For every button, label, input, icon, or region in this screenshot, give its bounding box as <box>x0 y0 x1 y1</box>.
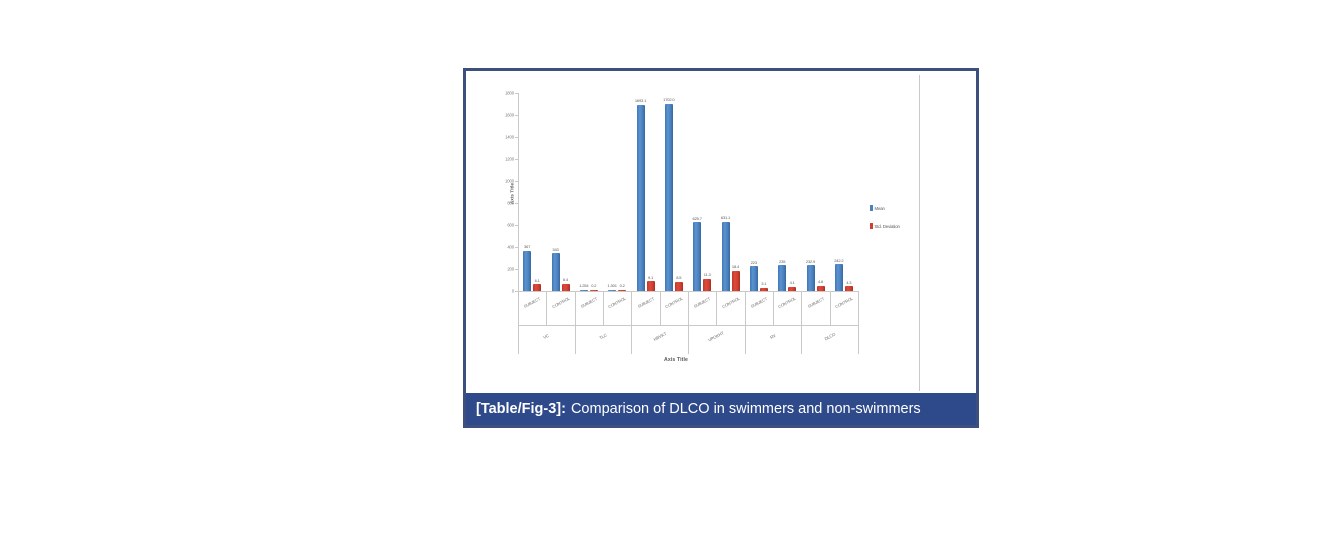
bar-value-label: 8.5 <box>676 275 681 280</box>
category-label: CONTROL <box>664 296 683 309</box>
group-label: DLCO <box>823 332 836 342</box>
bar-mean <box>807 265 815 291</box>
figure-caption-bar: [Table/Fig-3]: Comparison of DLCO in swi… <box>466 393 976 425</box>
bar-mean <box>608 290 616 291</box>
category-separator <box>716 292 717 325</box>
category-label: SUBJECT <box>580 296 598 309</box>
bar-value-label: 4.6 <box>818 279 823 284</box>
bar-value-label: 235 <box>779 259 785 264</box>
chart-legend: MeanStd. Deviation <box>870 205 916 241</box>
category-label: SUBJECT <box>693 296 711 309</box>
bar-std-deviation <box>845 286 853 291</box>
category-label: SUBJECT <box>750 296 768 309</box>
bar-value-label: 18.4 <box>732 264 739 269</box>
y-axis-tick-label: 400 <box>484 245 514 250</box>
category-separator <box>660 292 661 325</box>
bar-mean <box>552 253 560 291</box>
y-axis-tick-label: 1400 <box>484 135 514 140</box>
bar-std-deviation <box>562 284 570 291</box>
bar-value-label: 631.1 <box>721 215 730 220</box>
legend-swatch <box>870 205 873 211</box>
category-group-separator <box>631 292 632 354</box>
chart-canvas: Axis Title 02004006008001000120014001600… <box>466 71 976 393</box>
x-axis-title: Axis Title <box>466 357 886 363</box>
bar-std-deviation <box>760 288 768 291</box>
bar-value-label: 6.4 <box>563 277 568 282</box>
bar-std-deviation <box>675 282 683 291</box>
bar-std-deviation <box>788 287 796 292</box>
bar-mean <box>750 266 758 291</box>
bar-mean <box>778 265 786 291</box>
bar-std-deviation <box>647 281 655 291</box>
legend-item[interactable]: Mean <box>870 205 916 211</box>
category-separator <box>603 292 604 325</box>
category-label: CONTROL <box>721 296 740 309</box>
caption-text: Comparison of DLCO in swimmers and non-s… <box>571 401 921 417</box>
bar-mean <box>835 264 843 291</box>
category-separator <box>546 292 547 325</box>
group-label: HBVKT <box>652 331 667 342</box>
category-group-separator <box>688 292 689 354</box>
bar-value-label: 4.3 <box>846 280 851 285</box>
caption-tag: [Table/Fig-3]: <box>476 401 566 417</box>
category-group-separator <box>518 292 519 354</box>
bar-std-deviation <box>732 271 740 291</box>
bar-value-label: 242.2 <box>834 258 843 263</box>
y-axis-tick-label: 1200 <box>484 157 514 162</box>
bar-value-label: 6.1 <box>535 278 540 283</box>
y-axis-title: Axis Title <box>510 154 515 234</box>
bar-value-label: 1702.0 <box>663 97 674 102</box>
category-label: CONTROL <box>834 296 853 309</box>
y-axis-tick-label: 1000 <box>484 179 514 184</box>
bar-mean <box>580 290 588 291</box>
y-axis-tick-label: 200 <box>484 267 514 272</box>
bar-value-label: 223 <box>751 260 757 265</box>
figure-panel: Axis Title 02004006008001000120014001600… <box>463 68 979 428</box>
bar-mean <box>693 222 701 291</box>
category-label: SUBJECT <box>636 296 654 309</box>
bar-value-label: 343 <box>552 247 558 252</box>
y-axis-tick-label: 800 <box>484 201 514 206</box>
bar-value-label: 232.9 <box>806 259 815 264</box>
bar-value-label: 625.7 <box>693 216 702 221</box>
bar-mean <box>722 222 730 291</box>
category-separator <box>830 292 831 325</box>
category-group-separator <box>801 292 802 354</box>
bar-value-label: 9.1 <box>648 275 653 280</box>
bar-value-label: 11.3 <box>704 272 711 277</box>
bar-std-deviation <box>533 284 541 291</box>
y-axis-tick-label: 0 <box>484 289 514 294</box>
chart-right-divider <box>919 75 920 391</box>
bar-std-deviation <box>618 290 626 291</box>
category-separator <box>773 292 774 325</box>
group-label: VC <box>543 333 550 340</box>
bar-value-label: 367 <box>524 244 530 249</box>
plot-area: 3676.13436.41.2540.21.3010.21693.19.1170… <box>518 93 858 291</box>
category-group-separator <box>745 292 746 354</box>
bar-value-label: 1.254 <box>579 283 588 288</box>
bar-value-label: 4.1 <box>790 280 795 285</box>
group-label: VPOKHT <box>708 330 725 342</box>
bar-value-label: 3.1 <box>761 281 766 286</box>
category-label: CONTROL <box>607 296 626 309</box>
bar-std-deviation <box>590 290 598 291</box>
screenshot-root: Axis Title 02004006008001000120014001600… <box>0 0 1341 559</box>
bar-std-deviation <box>703 279 711 291</box>
bar-value-label: 0.2 <box>591 283 596 288</box>
y-axis-tick-label: 1800 <box>484 91 514 96</box>
y-axis-tick-label: 600 <box>484 223 514 228</box>
bar-value-label: 1693.1 <box>635 98 646 103</box>
legend-item[interactable]: Std. Deviation <box>870 223 916 229</box>
group-label: RV <box>769 333 776 340</box>
legend-label: Mean <box>875 206 885 211</box>
bar-mean <box>523 251 531 291</box>
bar-std-deviation <box>817 286 825 291</box>
legend-swatch <box>870 223 873 229</box>
category-group-separator <box>858 292 859 354</box>
bar-mean <box>637 105 645 291</box>
bar-mean <box>665 104 673 291</box>
category-axis: SUBJECTCONTROLVCSUBJECTCONTROLTLCSUBJECT… <box>518 292 859 354</box>
group-label: TLC <box>598 332 607 340</box>
bar-value-label: 1.301 <box>608 283 617 288</box>
category-label: SUBJECT <box>523 296 541 309</box>
category-label: CONTROL <box>551 296 570 309</box>
legend-label: Std. Deviation <box>875 224 900 229</box>
category-label: CONTROL <box>777 296 796 309</box>
category-group-separator <box>575 292 576 354</box>
bar-value-label: 0.2 <box>620 283 625 288</box>
category-label: SUBJECT <box>806 296 824 309</box>
y-axis-tick-label: 1600 <box>484 113 514 118</box>
